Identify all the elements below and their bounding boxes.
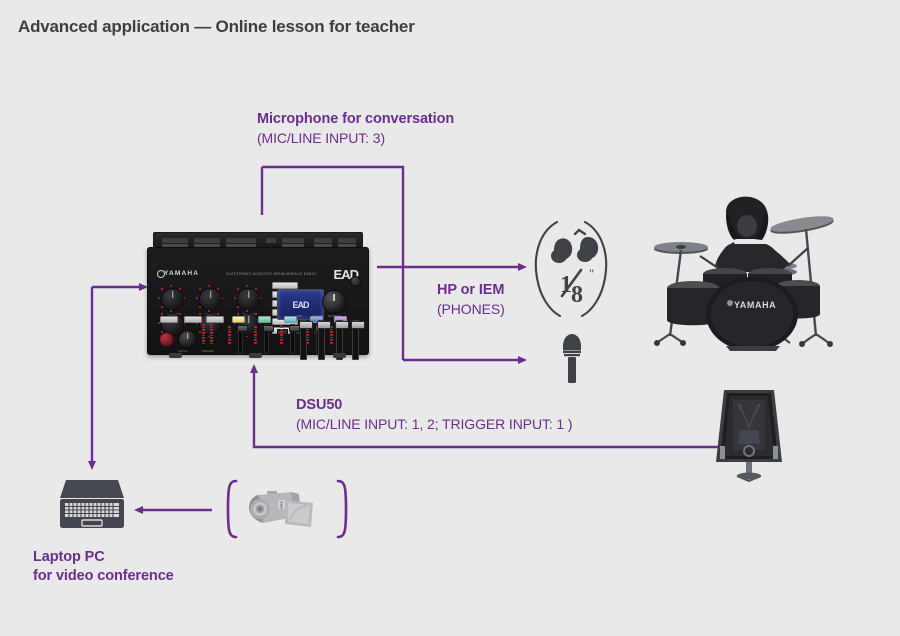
- mixer-power-knob[interactable]: [350, 276, 361, 287]
- mixer-button-back[interactable]: [206, 316, 224, 323]
- mixer-data-dial[interactable]: [322, 290, 346, 314]
- mixer-record-button[interactable]: [159, 332, 174, 347]
- diagram-canvas: Advanced application — Online lesson for…: [0, 0, 900, 636]
- mixer-knob-volume[interactable]: [161, 288, 184, 311]
- mixer-model-text: ELECTRONIC ACOUSTIC DRUM MODULE EAD10: [227, 272, 316, 276]
- drumkit-brand: YAMAHA: [734, 300, 776, 310]
- label-laptop-line2: for video conference: [33, 567, 174, 586]
- mixer-fader-click[interactable]: [318, 320, 325, 360]
- drummer-photo: YAMAHA: [630, 196, 858, 354]
- dsu50-trigger-unit: [706, 386, 792, 484]
- label-headphones: HP or IEM (PHONES): [437, 281, 505, 318]
- mixer-knob-effect[interactable]: [199, 288, 222, 311]
- label-headphones-detail: (PHONES): [437, 300, 505, 318]
- label-microphone-heading: Microphone for conversation: [257, 110, 454, 129]
- mixer-fader-ch1[interactable]: [238, 324, 243, 354]
- mixer-button-scene[interactable]: [272, 282, 298, 289]
- label-dsu50: DSU50 (MIC/LINE INPUT: 1, 2; TRIGGER INP…: [296, 396, 572, 433]
- mixer-button-exit[interactable]: [160, 316, 178, 323]
- laptop-icon: [52, 478, 132, 533]
- mixer-fader-ch3[interactable]: [290, 324, 295, 354]
- mixer-channel-button-1[interactable]: [232, 316, 245, 323]
- svg-text:″: ″: [589, 266, 594, 281]
- svg-text:8: 8: [571, 282, 583, 308]
- yamaha-ead-mixer: YAMAHA ELECTRONIC ACOUSTIC DRUM MODULE E…: [147, 232, 369, 363]
- mixer-brand: YAMAHA: [164, 270, 199, 277]
- label-laptop-line1: Laptop PC: [33, 548, 174, 567]
- handheld-microphone-icon: [550, 332, 594, 384]
- mixer-jog-wheel[interactable]: [178, 330, 197, 349]
- label-microphone-detail: (MIC/LINE INPUT: 3): [257, 129, 454, 147]
- mixer-front-panel: YAMAHA ELECTRONIC ACOUSTIC DRUM MODULE E…: [147, 247, 369, 355]
- camcorder-icon: [245, 487, 317, 535]
- mixer-fader-mic[interactable]: [300, 320, 307, 360]
- mixer-button-enter[interactable]: [184, 316, 202, 323]
- label-headphones-heading: HP or IEM: [437, 281, 505, 300]
- mixer-channel-button-2[interactable]: [258, 316, 271, 323]
- mixer-fader-phones[interactable]: [352, 320, 359, 360]
- mixer-lcd-text: EAD: [292, 300, 308, 310]
- label-microphone: Microphone for conversation (MIC/LINE IN…: [257, 110, 454, 147]
- mixer-fader-ch2[interactable]: [264, 324, 269, 354]
- label-dsu50-heading: DSU50: [296, 396, 572, 415]
- in-ear-monitor-icon: 1 8 ″: [527, 214, 615, 322]
- label-dsu50-detail: (MIC/LINE INPUT: 1, 2; TRIGGER INPUT: 1 …: [296, 415, 572, 433]
- mixer-knob-trigger[interactable]: [237, 288, 260, 311]
- mixer-channel-button-3[interactable]: [284, 316, 297, 323]
- label-laptop: Laptop PC for video conference: [33, 548, 174, 586]
